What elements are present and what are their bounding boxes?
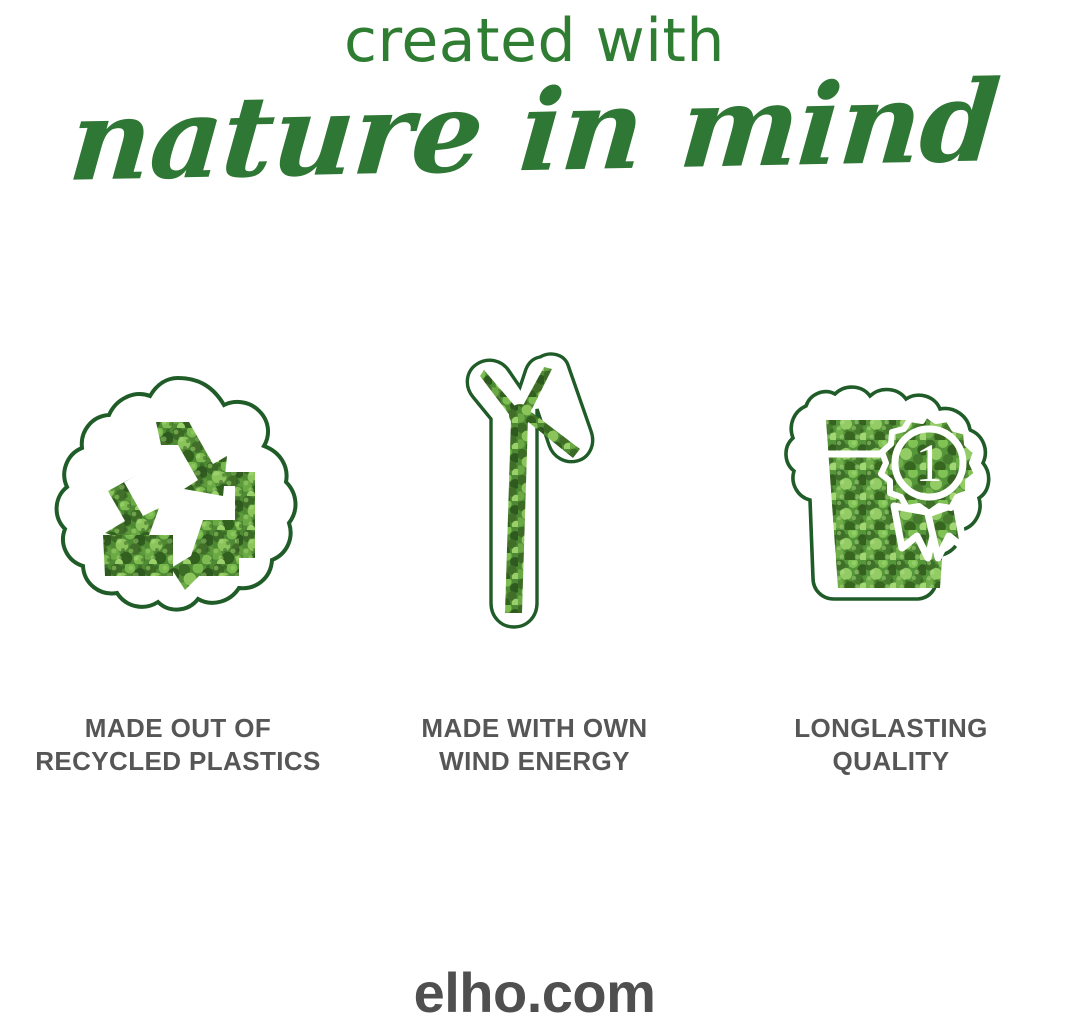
caption-line-1: LONGLASTING [713, 712, 1069, 745]
caption-wind-energy: MADE WITH OWN WIND ENERGY [357, 712, 713, 778]
rosette-number: 1 [916, 433, 943, 493]
headline-script-wrap: nature in mind [0, 70, 1069, 200]
caption-line-2: WIND ENERGY [357, 745, 713, 778]
caption-line-2: RECYCLED PLASTICS [0, 745, 356, 778]
feature-caption-row: MADE OUT OF RECYCLED PLASTICS MADE WITH … [0, 712, 1069, 778]
caption-line-1: MADE WITH OWN [357, 712, 713, 745]
poster-canvas: created with nature in mind [0, 0, 1069, 1024]
footer-block: elho.com [0, 962, 1069, 1024]
caption-longlasting-quality: LONGLASTING QUALITY [713, 712, 1069, 778]
recycle-icon [43, 360, 313, 630]
feature-icon-cell-recycled-plastics [0, 330, 356, 660]
feature-icon-row: 1 [0, 330, 1069, 660]
headline-line-nature-in-mind: nature in mind [65, 60, 1003, 203]
award-pot-icon: 1 [776, 380, 1006, 610]
caption-recycled-plastics: MADE OUT OF RECYCLED PLASTICS [0, 712, 356, 778]
caption-line-2: QUALITY [713, 745, 1069, 778]
caption-line-1: MADE OUT OF [0, 712, 356, 745]
feature-icon-cell-wind-energy [357, 330, 713, 660]
feature-icon-cell-longlasting-quality: 1 [713, 330, 1069, 660]
headline-block: created with nature in mind [0, 0, 1069, 200]
website-url[interactable]: elho.com [414, 961, 656, 1024]
wind-turbine-icon [440, 345, 630, 645]
